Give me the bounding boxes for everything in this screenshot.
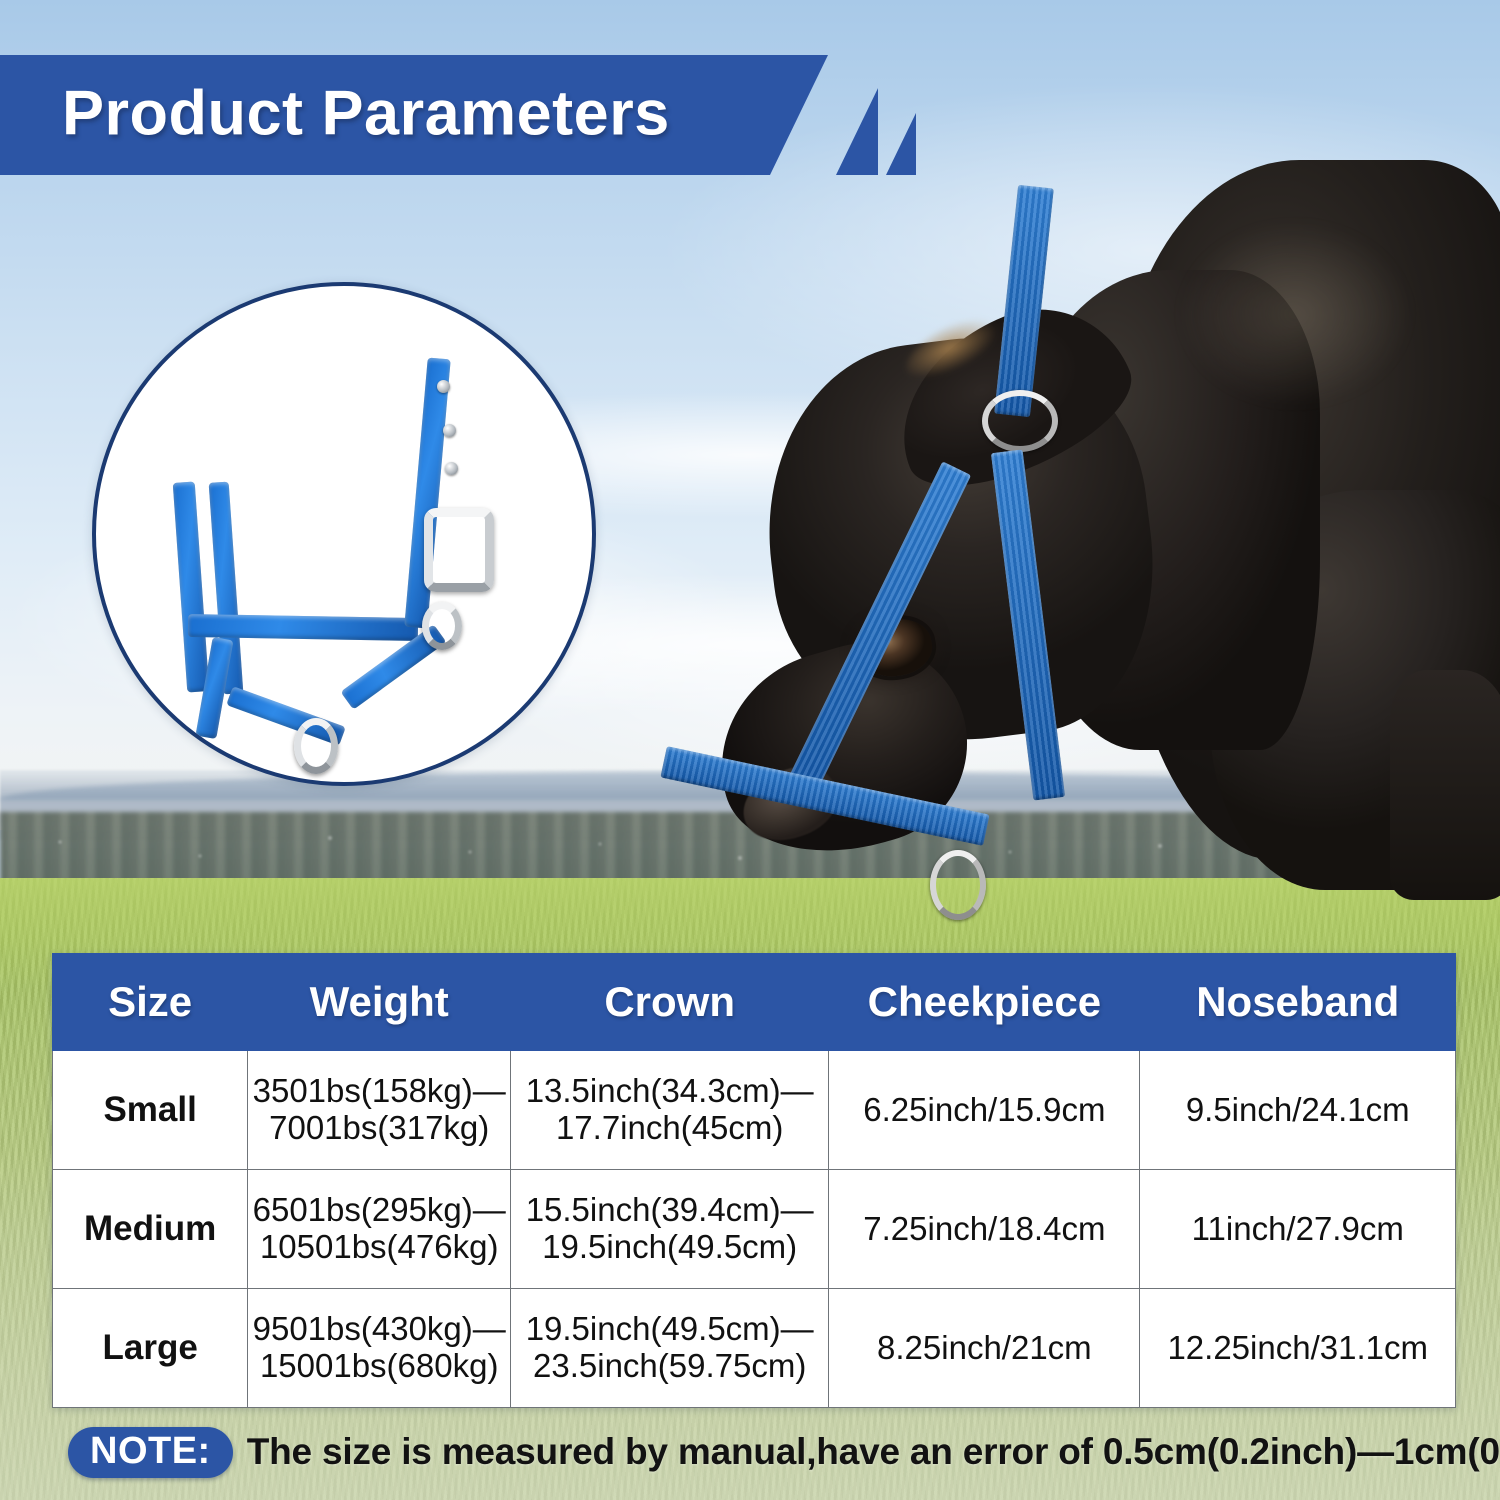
column-header-weight: Weight [248,954,511,1051]
inset-lead-dring [294,718,338,774]
table-row: Large 9501bs(430kg)— 15001bs(680kg) 19.5… [53,1289,1456,1408]
hero-cow-photo [690,150,1500,890]
cell-size: Medium [53,1170,248,1289]
cell-line: 6501bs(295kg)— [248,1192,510,1229]
cell-weight: 6501bs(295kg)— 10501bs(476kg) [248,1170,511,1289]
page-title: Product Parameters [62,78,670,150]
cell-crown: 13.5inch(34.3cm)— 17.7inch(45cm) [511,1051,829,1170]
cell-size: Small [53,1051,248,1170]
inset-rivet [443,424,456,437]
cell-line: 10501bs(476kg) [248,1229,510,1266]
inset-rivet [445,462,458,475]
column-header-crown: Crown [511,954,829,1051]
spec-table-body: Small 3501bs(158kg)— 7001bs(317kg) 13.5i… [53,1051,1456,1408]
cell-line: 19.5inch(49.5cm)— [511,1311,828,1348]
halter-crown-ring [982,390,1058,452]
inset-noseband-strap [188,614,418,641]
cell-crown: 15.5inch(39.4cm)— 19.5inch(49.5cm) [511,1170,829,1289]
inset-side-dring [422,602,462,650]
inset-left-cheek-strap [173,481,210,692]
column-header-size: Size [53,954,248,1051]
cell-crown: 19.5inch(49.5cm)— 23.5inch(59.75cm) [511,1289,829,1408]
spec-table-head: Size Weight Crown Cheekpiece Noseband [53,954,1456,1051]
cell-weight: 3501bs(158kg)— 7001bs(317kg) [248,1051,511,1170]
spec-table: Size Weight Crown Cheekpiece Noseband Sm… [52,953,1456,1408]
cell-line: 19.5inch(49.5cm) [511,1229,828,1266]
cell-size: Large [53,1289,248,1408]
note-text: The size is measured by manual,have an e… [247,1431,1500,1473]
table-row: Small 3501bs(158kg)— 7001bs(317kg) 13.5i… [53,1051,1456,1170]
cell-line: 3501bs(158kg)— [248,1073,510,1110]
column-header-noseband: Noseband [1140,954,1456,1051]
cell-line: 15.5inch(39.4cm)— [511,1192,828,1229]
cell-line: 17.7inch(45cm) [511,1110,828,1147]
cell-line: 9501bs(430kg)— [248,1311,510,1348]
banner-slash-icon [836,55,878,175]
cell-noseband: 12.25inch/31.1cm [1140,1289,1456,1408]
cell-noseband: 11inch/27.9cm [1140,1170,1456,1289]
product-parameters-page: Product Parameters Size Weight Crown Che… [0,0,1500,1500]
cow-coat-highlight [1160,210,1460,470]
inset-buckle [424,508,494,592]
inset-rivet [437,380,450,393]
cell-line: 7001bs(317kg) [248,1110,510,1147]
cell-line: 23.5inch(59.75cm) [511,1348,828,1385]
cell-cheekpiece: 8.25inch/21cm [829,1289,1140,1408]
halter-lead-ring [930,850,986,920]
product-inset-circle [92,282,596,786]
cell-cheekpiece: 7.25inch/18.4cm [829,1170,1140,1289]
note-row: NOTE: The size is measured by manual,hav… [68,1424,1500,1480]
cow-leg [1390,670,1500,900]
note-badge: NOTE: [68,1427,233,1478]
cell-line: 15001bs(680kg) [248,1348,510,1385]
table-row: Medium 6501bs(295kg)— 10501bs(476kg) 15.… [53,1170,1456,1289]
column-header-cheekpiece: Cheekpiece [829,954,1140,1051]
cell-cheekpiece: 6.25inch/15.9cm [829,1051,1140,1170]
page-header-banner: Product Parameters [0,55,900,175]
cell-line: 13.5inch(34.3cm)— [511,1073,828,1110]
cell-weight: 9501bs(430kg)— 15001bs(680kg) [248,1289,511,1408]
table-header-row: Size Weight Crown Cheekpiece Noseband [53,954,1456,1051]
cell-noseband: 9.5inch/24.1cm [1140,1051,1456,1170]
